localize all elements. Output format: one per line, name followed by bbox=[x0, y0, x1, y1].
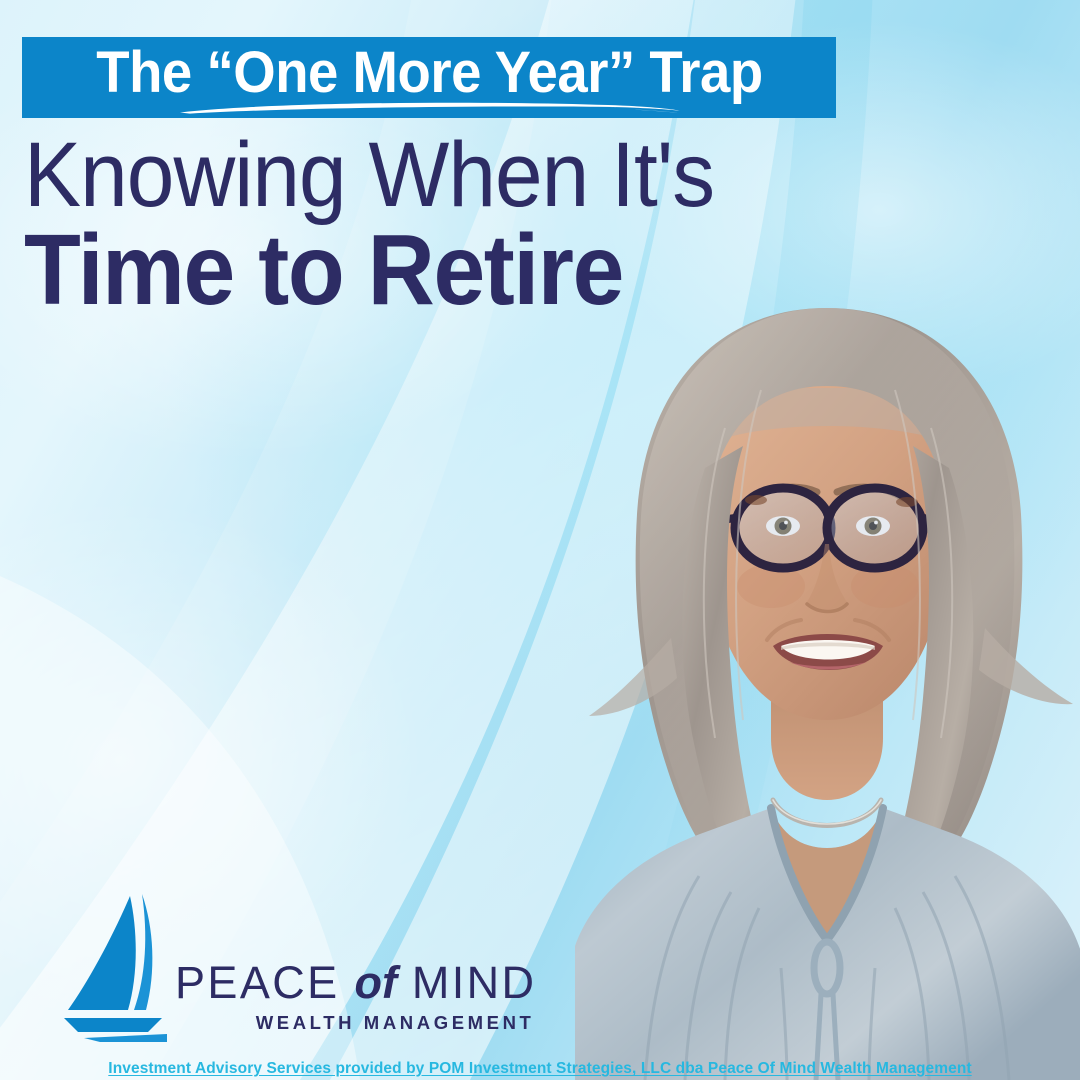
headline-line-1: Knowing When It's bbox=[24, 128, 714, 222]
sailboat-icon bbox=[62, 892, 167, 1042]
logo-name-of: of bbox=[354, 957, 396, 1008]
disclaimer-text: Investment Advisory Services provided by… bbox=[0, 1060, 1080, 1078]
brand-logo: PEACE of MIND WEALTH MANAGEMENT bbox=[62, 892, 536, 1042]
logo-name-peace: PEACE bbox=[175, 957, 340, 1008]
logo-subtitle: WEALTH MANAGEMENT bbox=[175, 1012, 536, 1034]
logo-name-mind: MIND bbox=[412, 957, 537, 1008]
portrait-photo bbox=[575, 268, 1080, 1080]
logo-wordmark: PEACE of MIND WEALTH MANAGEMENT bbox=[175, 958, 536, 1042]
banner-title: The “One More Year” Trap bbox=[96, 37, 762, 105]
logo-name: PEACE of MIND bbox=[175, 958, 536, 1008]
poster-canvas: The “One More Year” Trap Knowing When It… bbox=[0, 0, 1080, 1080]
banner-box: The “One More Year” Trap bbox=[22, 37, 836, 118]
